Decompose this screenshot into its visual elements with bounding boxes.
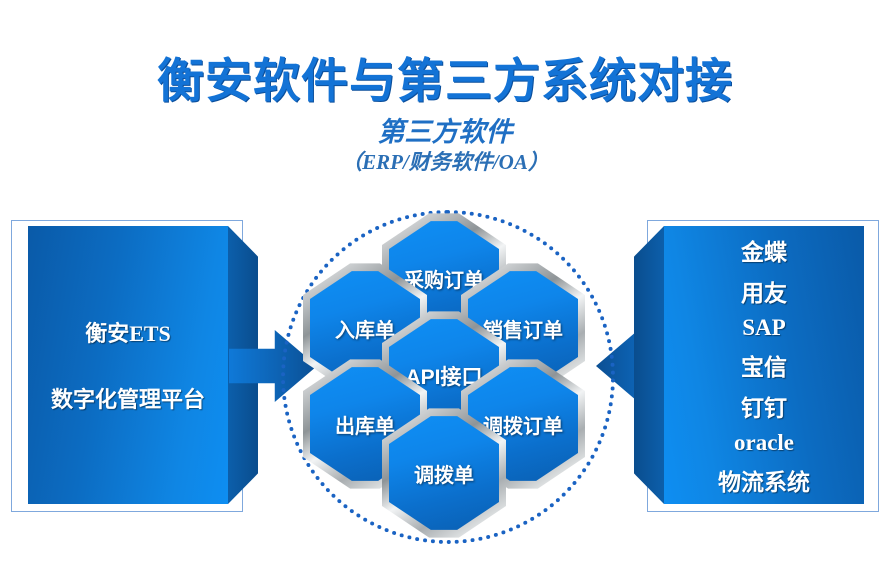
hexagon-label: 调拨单 xyxy=(414,459,474,488)
right-panel-shadow xyxy=(634,226,664,504)
left-panel-line: 数字化管理平台 xyxy=(51,382,205,414)
right-panel-line: 物流系统 xyxy=(718,463,810,497)
left-panel-line: 衡安ETS xyxy=(85,316,171,348)
right-panel-line: SAP xyxy=(742,315,785,341)
right-panel-line: oracle xyxy=(734,430,794,456)
right-panel-line: 用友 xyxy=(741,274,787,308)
right-panel-line: 金蝶 xyxy=(741,233,787,267)
right-panel-systems-box[interactable]: 金蝶 用友 SAP 宝信 钉钉 oracle 物流系统 xyxy=(664,226,864,504)
left-panel-product-box[interactable]: 衡安ETS 数字化管理平台 xyxy=(28,226,228,504)
page-subtitle: 第三方软件 xyxy=(0,110,890,149)
page-title: 衡安软件与第三方系统对接 xyxy=(0,42,890,111)
hexagon-transfer-note[interactable]: 调拨单 xyxy=(382,407,506,539)
page-subtitle-note: （ERP/财务软件/OA） xyxy=(0,146,890,176)
right-panel-line: 宝信 xyxy=(741,348,787,382)
right-panel-line: 钉钉 xyxy=(741,389,787,423)
hexagon-cluster: 采购订单 入库单 销售订单 API接口 出库单 调拨订单 调拨单 xyxy=(281,210,607,536)
